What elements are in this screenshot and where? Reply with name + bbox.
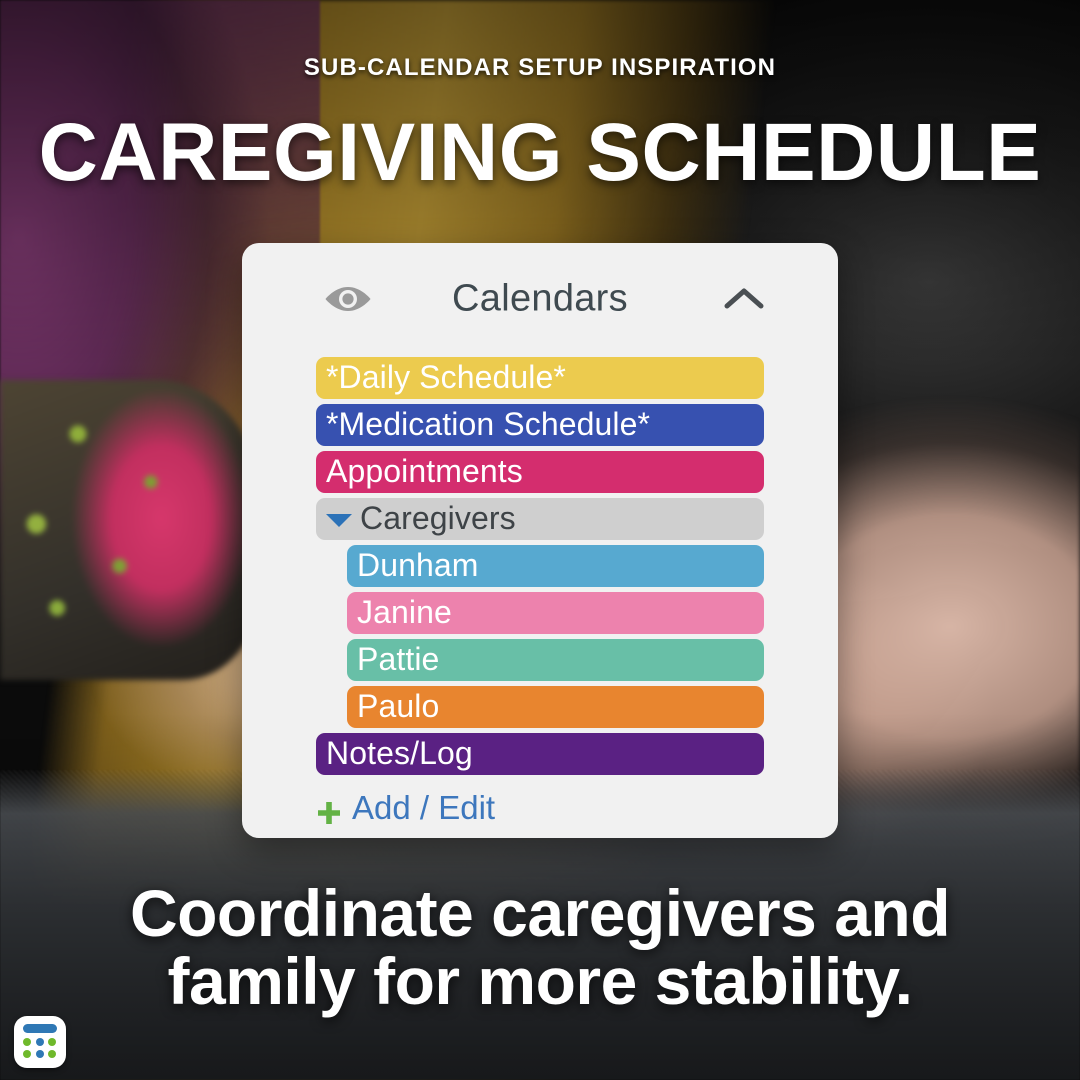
- logo-dots: [23, 1038, 57, 1058]
- page-title: CAREGIVING SCHEDULE: [0, 112, 1080, 194]
- logo-dot: [48, 1038, 56, 1046]
- caption-line-2: family for more stability.: [0, 948, 1080, 1016]
- calendar-chip[interactable]: Caregivers: [316, 498, 764, 540]
- logo-dot: [36, 1038, 44, 1046]
- calendar-chip-label: *Medication Schedule*: [326, 408, 650, 440]
- calendar-list: *Daily Schedule**Medication Schedule*App…: [242, 357, 838, 827]
- eyebrow-text: SUB-CALENDAR SETUP INSPIRATION: [0, 54, 1080, 82]
- calendar-chip[interactable]: *Daily Schedule*: [316, 357, 764, 399]
- logo-dot: [36, 1050, 44, 1058]
- chevron-up-icon[interactable]: [722, 284, 766, 314]
- logo-dot: [23, 1038, 31, 1046]
- calendar-chip[interactable]: Appointments: [316, 451, 764, 493]
- calendar-chip-label: *Daily Schedule*: [326, 361, 566, 393]
- calendar-chip[interactable]: Dunham: [347, 545, 764, 587]
- add-edit-button[interactable]: Add / Edit: [316, 789, 764, 827]
- calendar-chip[interactable]: Paulo: [347, 686, 764, 728]
- logo-dot: [23, 1050, 31, 1058]
- calendar-chip[interactable]: Janine: [347, 592, 764, 634]
- caption-line-1: Coordinate caregivers and: [0, 880, 1080, 948]
- teamup-calendar-logo[interactable]: [14, 1016, 66, 1068]
- calendar-chip-label: Pattie: [357, 643, 439, 675]
- logo-dot: [48, 1050, 56, 1058]
- calendar-chip-label: Dunham: [357, 549, 479, 581]
- calendar-chip-label: Caregivers: [354, 502, 516, 534]
- triangle-down-icon[interactable]: [326, 514, 352, 527]
- calendar-chip-label: Janine: [357, 596, 452, 628]
- calendar-chip[interactable]: Pattie: [347, 639, 764, 681]
- calendar-chip-label: Paulo: [357, 690, 439, 722]
- calendar-chip-label: Appointments: [326, 455, 523, 487]
- calendar-chip[interactable]: *Medication Schedule*: [316, 404, 764, 446]
- calendar-chip[interactable]: Notes/Log: [316, 733, 764, 775]
- calendars-panel: Calendars *Daily Schedule**Medication Sc…: [242, 243, 838, 838]
- add-edit-label: Add / Edit: [352, 789, 495, 827]
- calendar-chip-label: Notes/Log: [326, 737, 473, 769]
- plus-icon: [316, 796, 342, 822]
- social-card: SUB-CALENDAR SETUP INSPIRATION CAREGIVIN…: [0, 0, 1080, 1080]
- logo-bar: [23, 1024, 57, 1033]
- caption-text: Coordinate caregivers and family for mor…: [0, 880, 1080, 1016]
- calendars-panel-header: Calendars: [242, 243, 838, 355]
